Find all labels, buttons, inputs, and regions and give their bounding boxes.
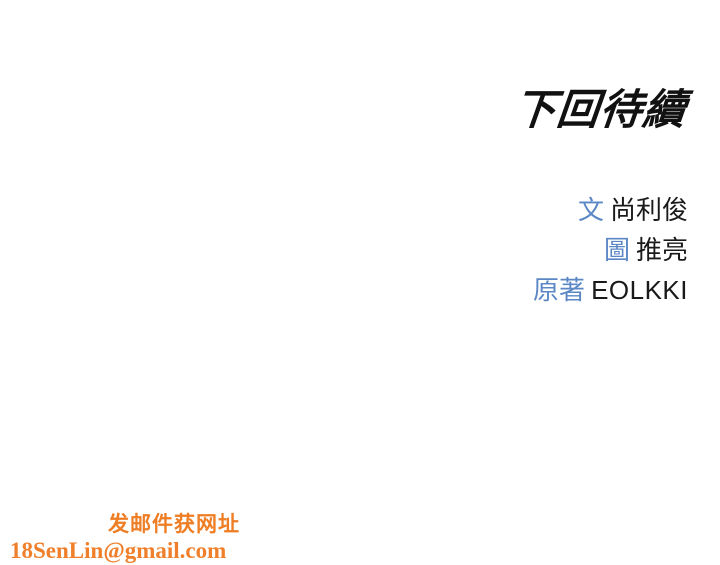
credit-name-artist: 推亮 [636,236,688,266]
watermark-email-text: 18SenLin@gmail.com [8,537,268,564]
credit-role-artist-label: 圖 [604,236,630,266]
page-title: 下回待續 [0,88,686,132]
credit-name-writer: 尚利俊 [610,196,688,226]
credit-role-original-author-label: 原著 [533,276,585,306]
credit-line-original-author: 原著EOLKKI [0,270,688,310]
credit-name-original-author: EOLKKI [591,275,688,305]
credit-line-writer: 文尚利俊 [0,190,688,230]
credits-block: 文尚利俊 圖推亮 原著EOLKKI [0,190,688,310]
credit-line-artist: 圖推亮 [0,230,688,270]
to-be-continued-title: 下回待續 [512,88,689,132]
comic-end-page: 下回待續 文尚利俊 圖推亮 原著EOLKKI 发邮件获网址 18SenLin@g… [0,0,720,565]
watermark-chinese-text: 发邮件获网址 [8,511,268,537]
watermark: 发邮件获网址 18SenLin@gmail.com [8,511,268,564]
credit-role-writer-label: 文 [578,196,604,226]
